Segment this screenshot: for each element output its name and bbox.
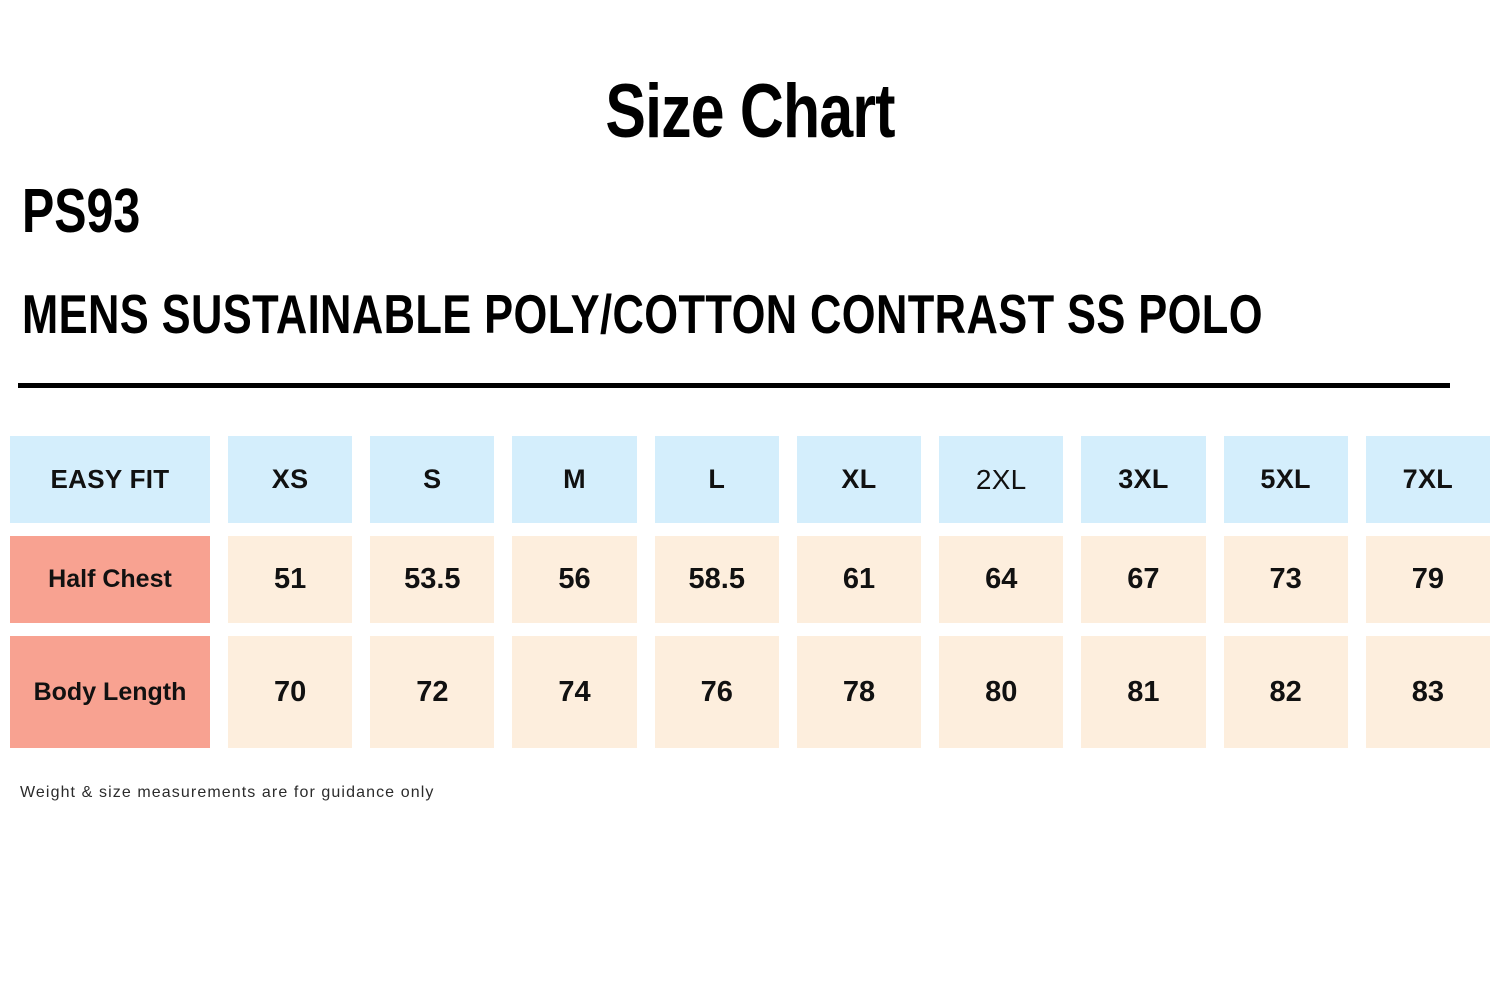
page-title: Size Chart bbox=[150, 72, 1350, 152]
size-chart-table: EASY FIT XS S M L XL 2XL 3XL 5XL 7XL Hal… bbox=[10, 436, 1490, 761]
disclaimer-text: Weight & size measurements are for guida… bbox=[20, 782, 434, 804]
half-chest-3xl: 67 bbox=[1081, 536, 1205, 623]
fit-type-label: EASY FIT bbox=[10, 436, 210, 523]
size-header-5xl: 5XL bbox=[1224, 436, 1348, 523]
measurement-label-body-length: Body Length bbox=[10, 636, 210, 748]
size-header-m: M bbox=[512, 436, 636, 523]
body-length-l: 76 bbox=[655, 636, 779, 748]
half-chest-2xl: 64 bbox=[939, 536, 1063, 623]
product-name: MENS SUSTAINABLE POLY/COTTON CONTRAST SS… bbox=[22, 284, 1263, 344]
size-header-xs: XS bbox=[228, 436, 352, 523]
table-row-half-chest: Half Chest 51 53.5 56 58.5 61 64 67 73 7… bbox=[10, 536, 1490, 623]
body-length-5xl: 82 bbox=[1224, 636, 1348, 748]
table-header-row: EASY FIT XS S M L XL 2XL 3XL 5XL 7XL bbox=[10, 436, 1490, 523]
body-length-xs: 70 bbox=[228, 636, 352, 748]
size-header-7xl: 7XL bbox=[1366, 436, 1490, 523]
half-chest-7xl: 79 bbox=[1366, 536, 1490, 623]
half-chest-s: 53.5 bbox=[370, 536, 494, 623]
half-chest-m: 56 bbox=[512, 536, 636, 623]
measurement-label-half-chest: Half Chest bbox=[10, 536, 210, 623]
size-header-3xl: 3XL bbox=[1081, 436, 1205, 523]
body-length-m: 74 bbox=[512, 636, 636, 748]
body-length-2xl: 80 bbox=[939, 636, 1063, 748]
body-length-7xl: 83 bbox=[1366, 636, 1490, 748]
half-chest-l: 58.5 bbox=[655, 536, 779, 623]
size-header-s: S bbox=[370, 436, 494, 523]
half-chest-xl: 61 bbox=[797, 536, 921, 623]
size-header-l: L bbox=[655, 436, 779, 523]
body-length-3xl: 81 bbox=[1081, 636, 1205, 748]
half-chest-5xl: 73 bbox=[1224, 536, 1348, 623]
half-chest-xs: 51 bbox=[228, 536, 352, 623]
body-length-s: 72 bbox=[370, 636, 494, 748]
size-header-xl: XL bbox=[797, 436, 921, 523]
size-header-2xl: 2XL bbox=[939, 436, 1063, 523]
body-length-xl: 78 bbox=[797, 636, 921, 748]
table-row-body-length: Body Length 70 72 74 76 78 80 81 82 83 bbox=[10, 636, 1490, 748]
product-code: PS93 bbox=[22, 178, 140, 246]
header-divider bbox=[18, 383, 1450, 388]
